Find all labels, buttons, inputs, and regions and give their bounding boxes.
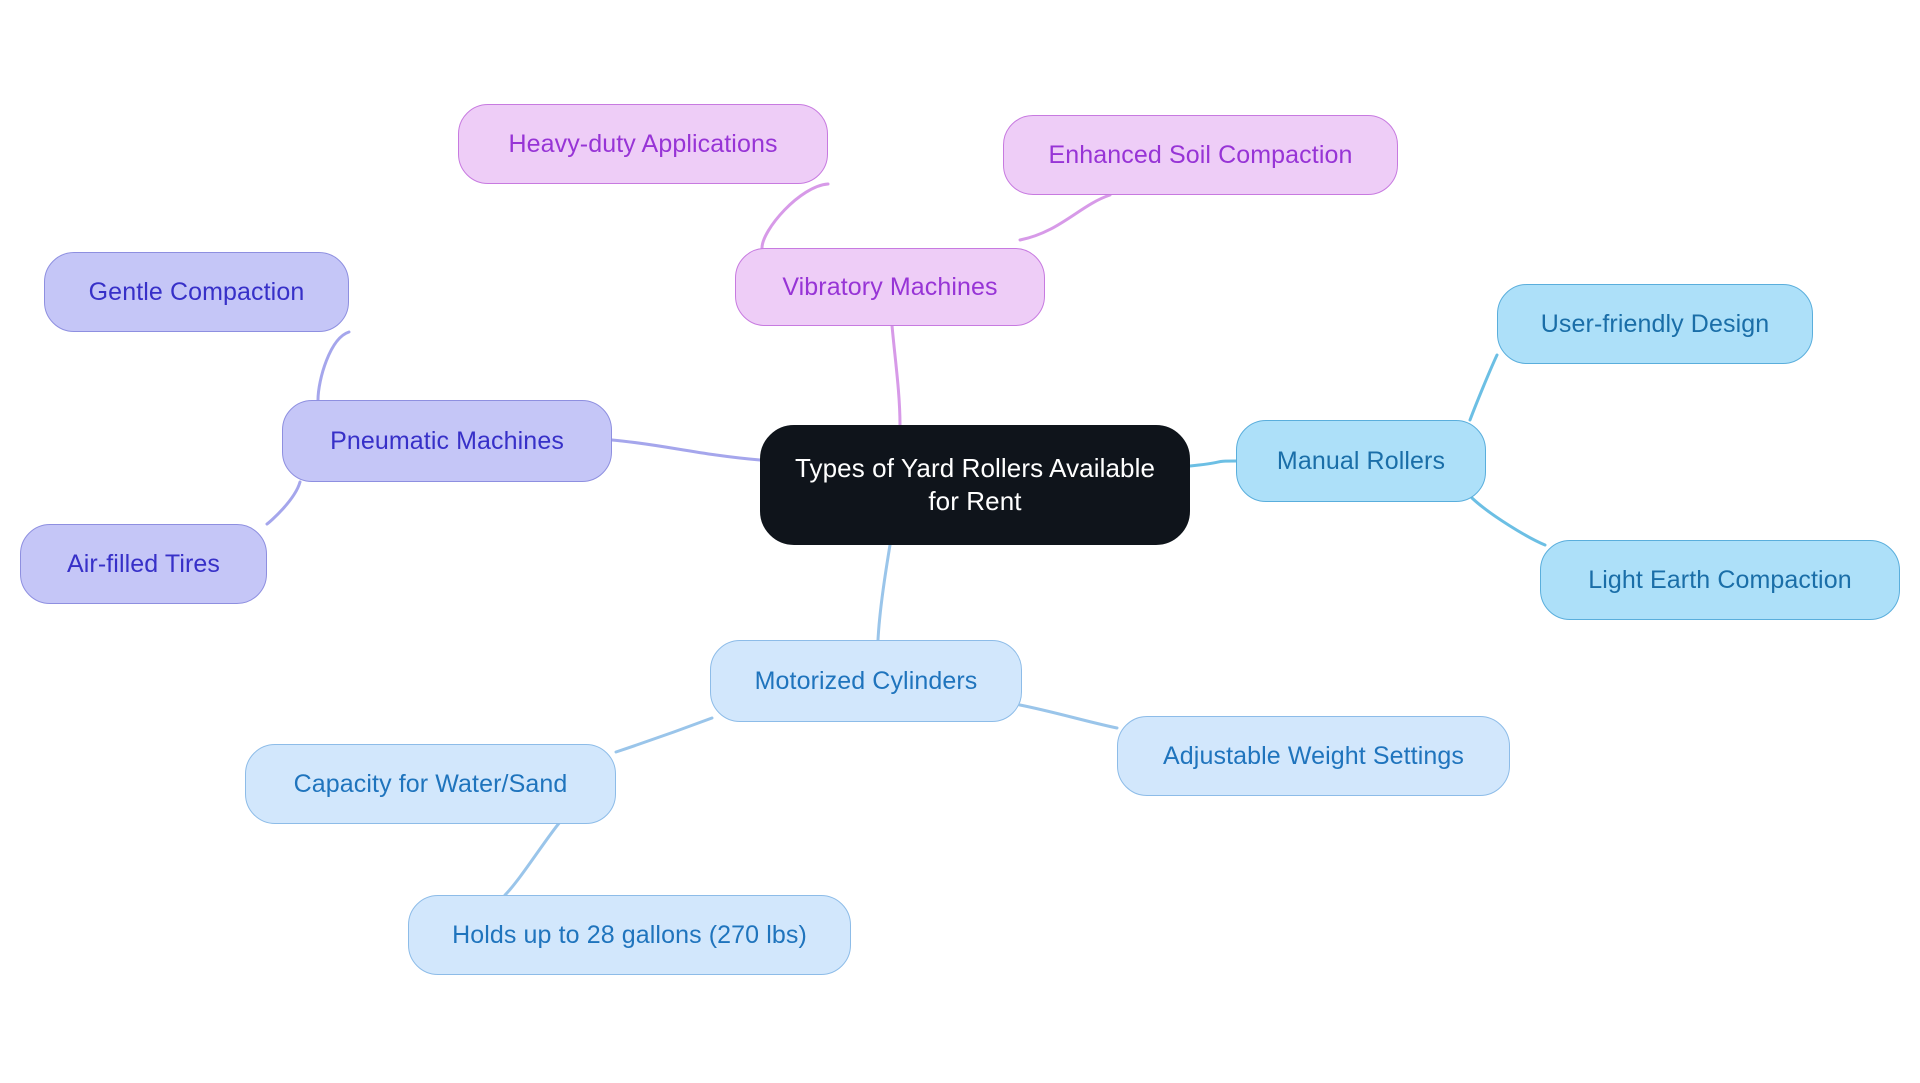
mindmap-node-pneumatic-machines[interactable]: Pneumatic Machines	[282, 400, 612, 482]
mindmap-node-gentle-compaction[interactable]: Gentle Compaction	[44, 252, 349, 332]
mindmap-node-label: Capacity for Water/Sand	[294, 768, 568, 800]
mindmap-node-label: Types of Yard Rollers Available for Rent	[795, 452, 1155, 519]
mindmap-canvas: Types of Yard Rollers Available for Rent…	[0, 0, 1920, 1083]
mindmap-edge	[1020, 195, 1110, 240]
mindmap-node-vibratory-machines[interactable]: Vibratory Machines	[735, 248, 1045, 326]
mindmap-node-label: Heavy-duty Applications	[508, 128, 777, 160]
mindmap-node-label: Vibratory Machines	[782, 271, 997, 303]
mindmap-node-heavy-duty-applications[interactable]: Heavy-duty Applications	[458, 104, 828, 184]
mindmap-node-label: Enhanced Soil Compaction	[1049, 139, 1353, 171]
mindmap-edge	[612, 440, 760, 460]
mindmap-node-label: Gentle Compaction	[89, 276, 305, 308]
mindmap-edge	[318, 332, 349, 400]
mindmap-node-label: Manual Rollers	[1277, 445, 1445, 477]
mindmap-node-holds-up-to-28-gallons[interactable]: Holds up to 28 gallons (270 lbs)	[408, 895, 851, 975]
mindmap-node-motorized-cylinders[interactable]: Motorized Cylinders	[710, 640, 1022, 722]
mindmap-edge	[1190, 461, 1236, 466]
mindmap-node-label: Holds up to 28 gallons (270 lbs)	[452, 919, 807, 951]
mindmap-edge	[1020, 705, 1117, 728]
mindmap-edge	[505, 822, 560, 895]
mindmap-node-user-friendly-design[interactable]: User-friendly Design	[1497, 284, 1813, 364]
mindmap-edge	[1472, 498, 1545, 545]
mindmap-node-enhanced-soil-compaction[interactable]: Enhanced Soil Compaction	[1003, 115, 1398, 195]
mindmap-node-manual-rollers[interactable]: Manual Rollers	[1236, 420, 1486, 502]
mindmap-edge	[616, 718, 712, 752]
mindmap-node-capacity-for-water-sand[interactable]: Capacity for Water/Sand	[245, 744, 616, 824]
mindmap-edge	[1470, 355, 1497, 420]
mindmap-node-label: Air-filled Tires	[67, 548, 220, 580]
mindmap-node-root[interactable]: Types of Yard Rollers Available for Rent	[760, 425, 1190, 545]
mindmap-node-label: Light Earth Compaction	[1588, 564, 1851, 596]
mindmap-node-label: Adjustable Weight Settings	[1163, 740, 1464, 772]
mindmap-node-air-filled-tires[interactable]: Air-filled Tires	[20, 524, 267, 604]
mindmap-edge	[267, 482, 300, 524]
mindmap-node-adjustable-weight-settings[interactable]: Adjustable Weight Settings	[1117, 716, 1510, 796]
mindmap-edge	[762, 184, 828, 248]
mindmap-node-label: User-friendly Design	[1541, 308, 1769, 340]
mindmap-node-light-earth-compaction[interactable]: Light Earth Compaction	[1540, 540, 1900, 620]
mindmap-node-label: Motorized Cylinders	[755, 665, 978, 697]
mindmap-node-label: Pneumatic Machines	[330, 425, 564, 457]
